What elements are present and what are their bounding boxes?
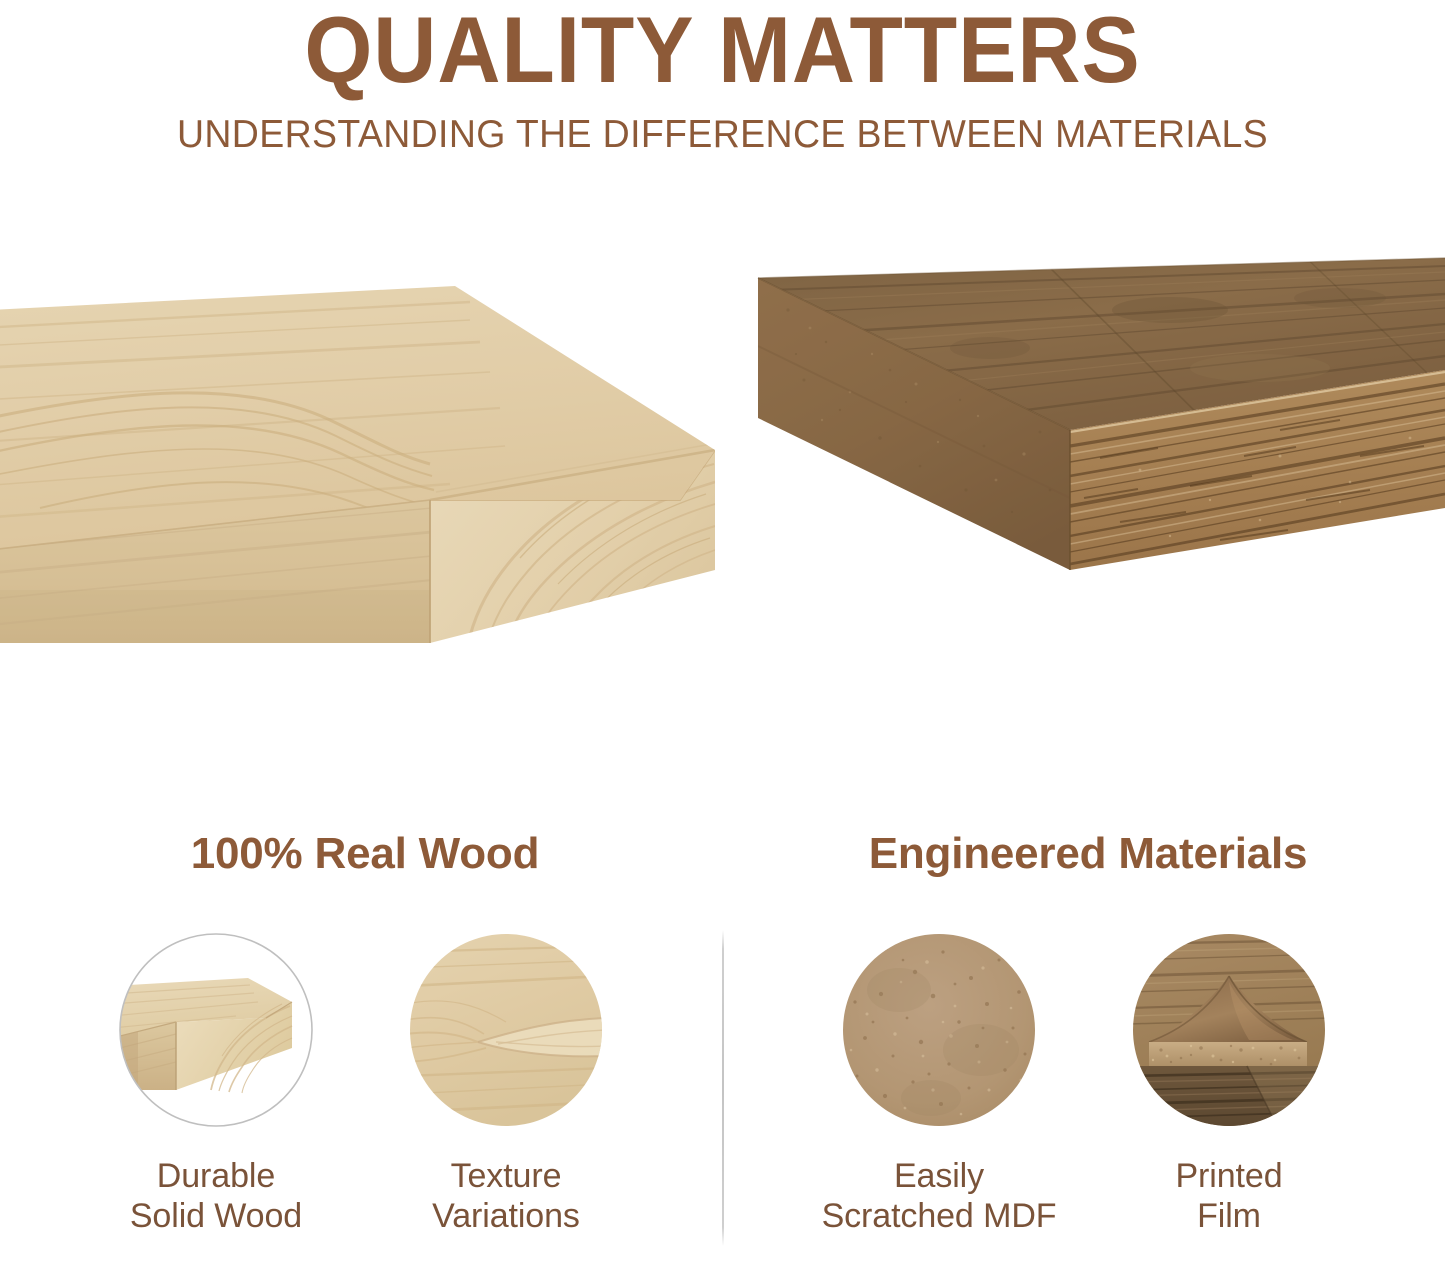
header: QUALITY MATTERS UNDERSTANDING THE DIFFER… xyxy=(0,0,1445,156)
peeling-printed-film-thumb xyxy=(1129,930,1329,1130)
page-subtitle: UNDERSTANDING THE DIFFERENCE BETWEEN MAT… xyxy=(29,98,1416,156)
card-durable-solid-wood: Durable Solid Wood xyxy=(71,930,361,1236)
solid-wood-board-photo xyxy=(0,250,715,705)
column-real-wood: 100% Real Wood xyxy=(0,800,722,1271)
card-caption-easily-scratched-mdf: Easily Scratched MDF xyxy=(822,1156,1057,1236)
cards-engineered: Easily Scratched MDF xyxy=(723,930,1445,1271)
mdf-particle-thumb xyxy=(839,930,1039,1130)
card-caption-texture-variations: Texture Variations xyxy=(432,1156,580,1236)
feature-columns: 100% Real Wood xyxy=(0,800,1445,1271)
cards-real-wood: Durable Solid Wood xyxy=(0,930,722,1271)
card-easily-scratched-mdf: Easily Scratched MDF xyxy=(794,930,1084,1236)
card-texture-variations: Texture Variations xyxy=(361,930,651,1236)
card-caption-printed-film: Printed Film xyxy=(1175,1156,1282,1236)
card-printed-film: Printed Film xyxy=(1084,930,1374,1236)
card-caption-durable-solid-wood: Durable Solid Wood xyxy=(130,1156,302,1236)
mdf-board-photo xyxy=(740,250,1445,705)
infographic-page: QUALITY MATTERS UNDERSTANDING THE DIFFER… xyxy=(0,0,1445,1271)
column-heading-real-wood: 100% Real Wood xyxy=(0,800,722,882)
page-title: QUALITY MATTERS xyxy=(51,0,1395,98)
column-heading-engineered: Engineered Materials xyxy=(723,800,1445,882)
wood-grain-texture-thumb xyxy=(406,930,606,1130)
hero-comparison xyxy=(0,250,1445,720)
solid-wood-corner-thumb xyxy=(116,930,316,1130)
column-engineered-materials: Engineered Materials xyxy=(723,800,1445,1271)
